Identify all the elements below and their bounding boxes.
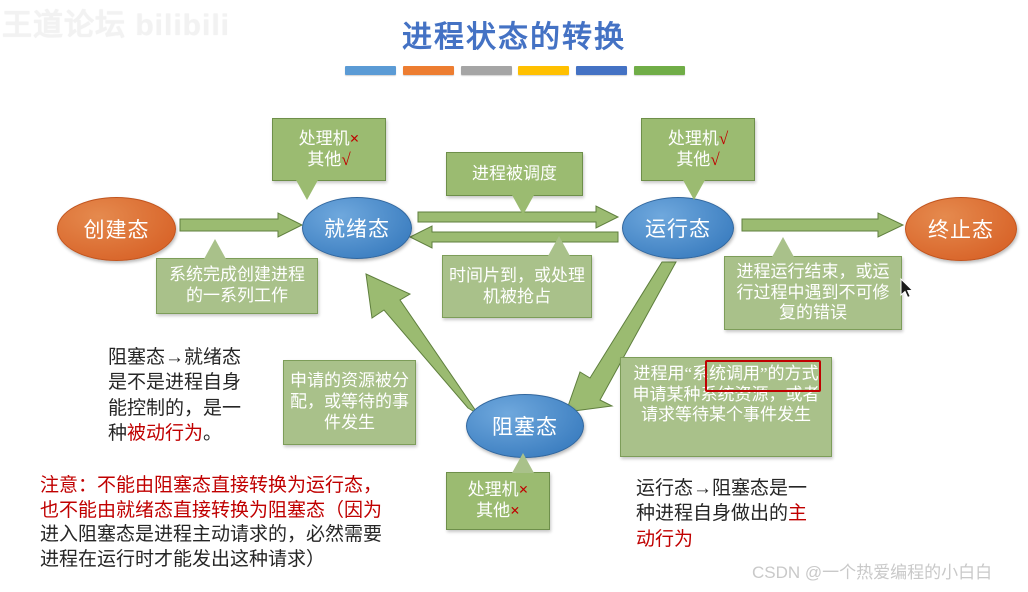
callout-syscall-prefix: 进程用 (633, 364, 684, 383)
callout-timeslice-tail (548, 236, 570, 256)
note-caution-line3: 进入阻塞态是进程主动请求的，必然需要 (40, 523, 440, 548)
callout-running-line2: 其他√ (676, 150, 719, 171)
csdn-watermark: CSDN @一个热爱编程的小白白 (752, 558, 992, 583)
note-right-line2: 种进程自身做出的主 (636, 501, 851, 526)
callout-running-resources: 处理机√ 其他√ (641, 118, 755, 181)
note-caution-line4: 进程在运行时才能发出这种请求） (40, 548, 440, 573)
note-caution-line1: 注意：不能由阻塞态直接转换为运行态， (40, 474, 440, 499)
check-icon: √ (719, 129, 728, 148)
note-left-emphasis: 被动行为 (127, 423, 203, 444)
callout-ready-tail (296, 180, 318, 200)
check-icon: √ (710, 150, 719, 169)
note-left-line3: 能控制的，是一 (108, 396, 278, 421)
node-ready-state[interactable]: 就绪态 (302, 197, 412, 259)
callout-blocked-resources: 处理机× 其他× (446, 472, 550, 530)
cross-icon: × (510, 501, 520, 520)
callout-running-line1: 处理机√ (668, 129, 728, 150)
note-blocked-to-ready: 阻塞态→就绪态 是不是进程自身 能控制的，是一 种被动行为。 (108, 345, 278, 447)
callout-resource-granted: 申请的资源被分配，或等待的事件发生 (283, 360, 416, 445)
note-left-line1: 阻塞态→就绪态 (108, 345, 278, 370)
check-icon: √ (341, 150, 350, 169)
note-left-line4: 种被动行为。 (108, 421, 278, 446)
callout-timeslice: 时间片到，或处理机被抢占 (442, 255, 592, 318)
callout-finish-tail (772, 237, 794, 257)
callout-blocked-line1: 处理机× (468, 480, 529, 501)
node-running-state[interactable]: 运行态 (622, 197, 734, 259)
node-terminated-state[interactable]: 终止态 (905, 197, 1017, 261)
cross-icon: × (519, 480, 529, 499)
callout-create-work-tail (204, 239, 226, 259)
callout-blocked-line2: 其他× (476, 501, 520, 522)
callout-syscall-highlight: “系统调用” (684, 364, 767, 383)
callout-blocked-tail (512, 453, 534, 473)
callout-scheduled-tail (512, 195, 534, 215)
callout-ready-line1: 处理机× (299, 129, 360, 150)
note-left-line2: 是不是进程自身 (108, 370, 278, 395)
note-right-emphasis-2: 动行为 (636, 527, 851, 552)
note-right-line1: 运行态→阻塞态是一 (636, 476, 851, 501)
note-running-to-blocked: 运行态→阻塞态是一 种进程自身做出的主 动行为 (636, 476, 851, 552)
callout-ready-line2: 其他√ (307, 150, 350, 171)
callout-syscall: 进程用“系统调用”的方式申请某种系统资源，或者请求等待某个事件发生 (620, 357, 832, 457)
callout-scheduled: 进程被调度 (446, 152, 583, 196)
callout-finish: 进程运行结束，或运行过程中遇到不可修复的错误 (724, 256, 902, 330)
callout-ready-resources: 处理机× 其他√ (272, 118, 386, 181)
slide-canvas: 王道论坛 bilibili 进程状态的转换 (0, 0, 1028, 592)
callout-running-tail (683, 180, 705, 200)
node-create-state[interactable]: 创建态 (57, 197, 176, 261)
note-caution-line2: 也不能由就绪态直接转换为阻塞态（因为 (40, 499, 440, 524)
cross-icon: × (350, 129, 360, 148)
node-blocked-state[interactable]: 阻塞态 (466, 394, 584, 458)
note-caution: 注意：不能由阻塞态直接转换为运行态， 也不能由就绪态直接转换为阻塞态（因为 进入… (40, 474, 440, 573)
callout-create-work: 系统完成创建进程的一系列工作 (156, 258, 318, 314)
mouse-cursor (900, 278, 916, 300)
note-right-emphasis-1: 主 (788, 503, 807, 524)
